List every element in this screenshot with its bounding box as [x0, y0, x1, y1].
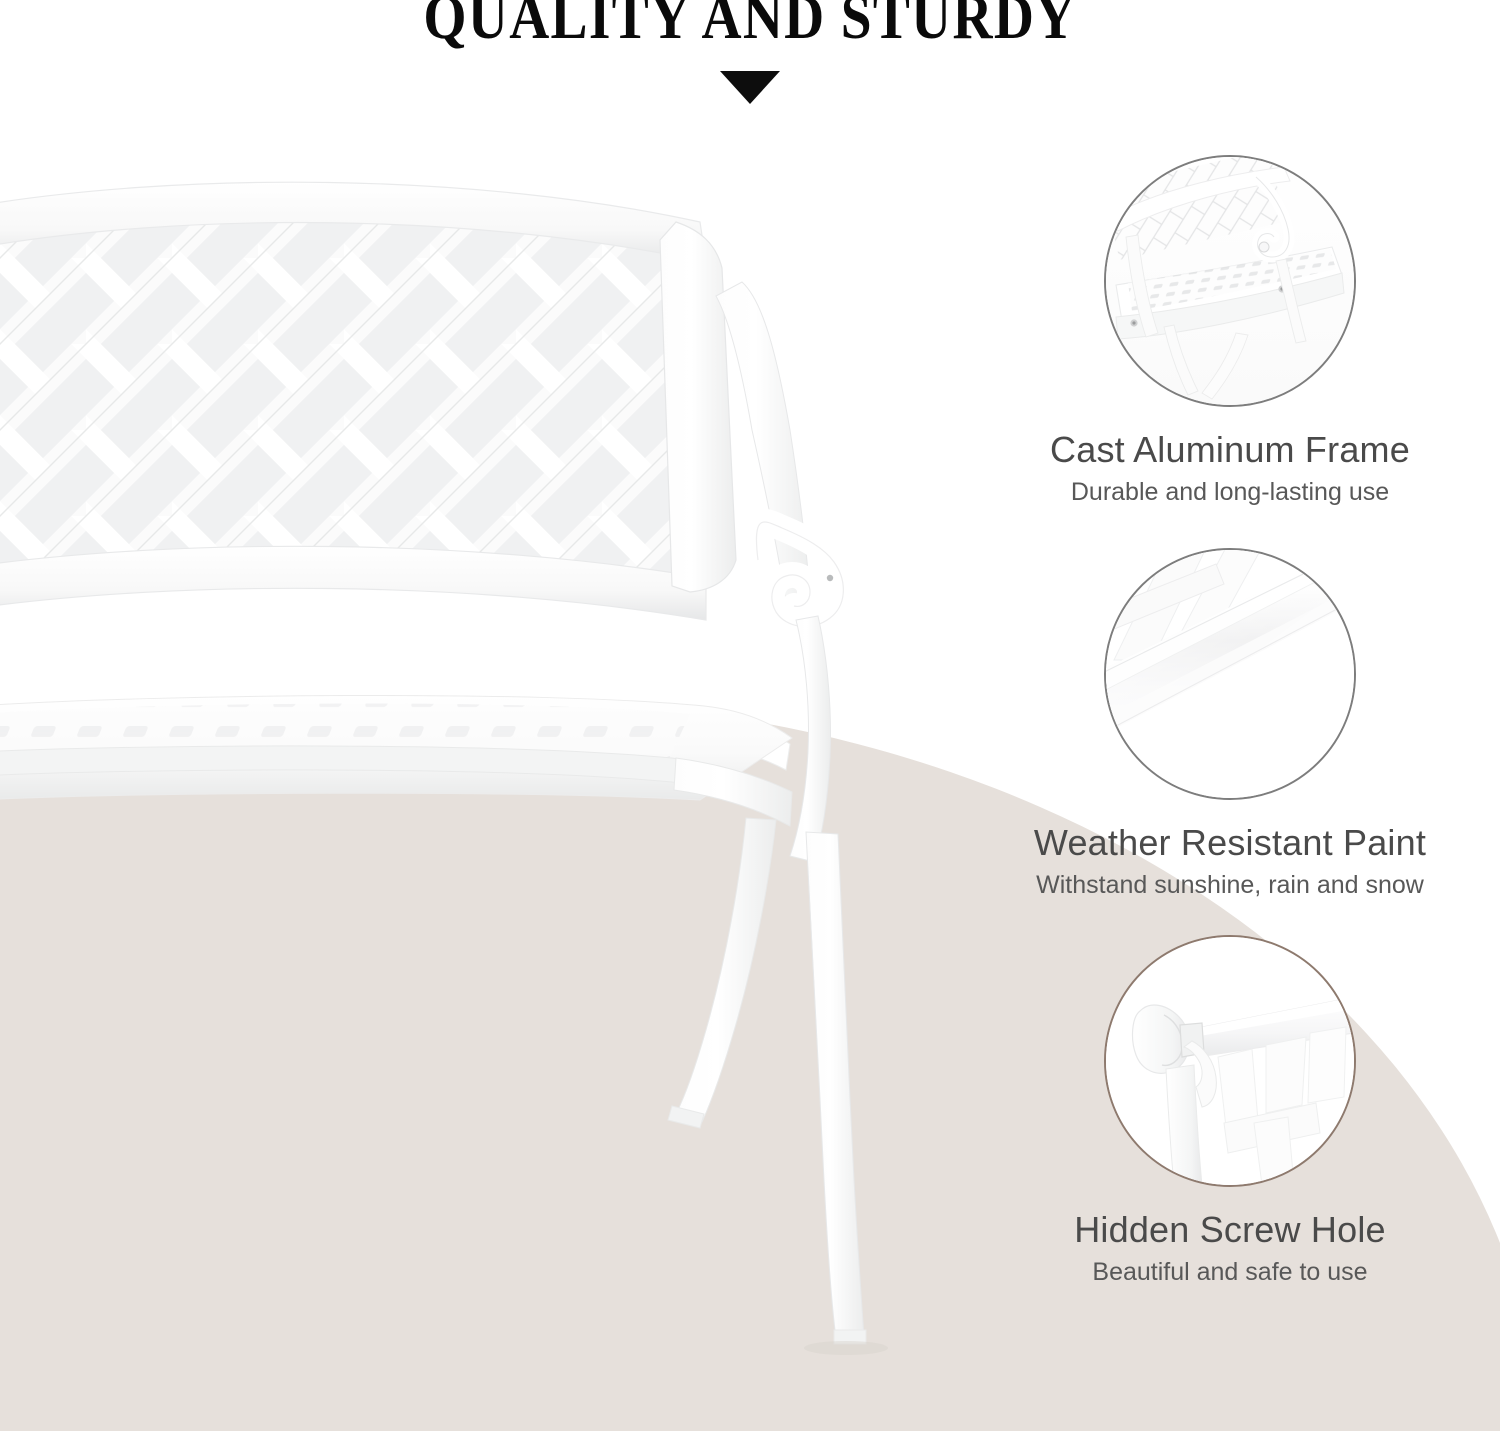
painted-rail-closeup-photo: [1104, 548, 1356, 800]
product-feature-infographic: QUALITY AND STURDY: [0, 0, 1500, 1431]
feature-item-hidden-screw-hole: Hidden Screw Hole Beautiful and safe to …: [960, 935, 1500, 1287]
feature-list: Cast Aluminum Frame Durable and long-las…: [960, 0, 1500, 1431]
product-hero-image: [0, 0, 960, 1431]
arm-front-post: [790, 616, 831, 862]
feature-subtitle: Beautiful and safe to use: [960, 1257, 1500, 1287]
bench-seat-closeup-photo: [1104, 155, 1356, 407]
armrest-screw-hole: [827, 575, 833, 581]
front-leg-shadow: [804, 1341, 888, 1355]
bench-rear-leg: [676, 818, 776, 1122]
bench-front-leg: [806, 832, 864, 1338]
feature-item-cast-aluminum-frame: Cast Aluminum Frame Durable and long-las…: [960, 155, 1500, 507]
feature-title: Hidden Screw Hole: [960, 1209, 1500, 1250]
feature-title: Weather Resistant Paint: [960, 822, 1500, 863]
armrest-joint-closeup-photo: [1104, 935, 1356, 1187]
armrest-scroll: [756, 522, 843, 627]
feature-subtitle: Durable and long-lasting use: [960, 477, 1500, 507]
feature-item-weather-resistant-paint: Weather Resistant Paint Withstand sunshi…: [960, 548, 1500, 900]
feature-title: Cast Aluminum Frame: [960, 429, 1500, 470]
triangle-down-icon: [720, 71, 780, 104]
feature-subtitle: Withstand sunshine, rain and snow: [960, 870, 1500, 900]
backrest-right-post: [660, 222, 736, 592]
